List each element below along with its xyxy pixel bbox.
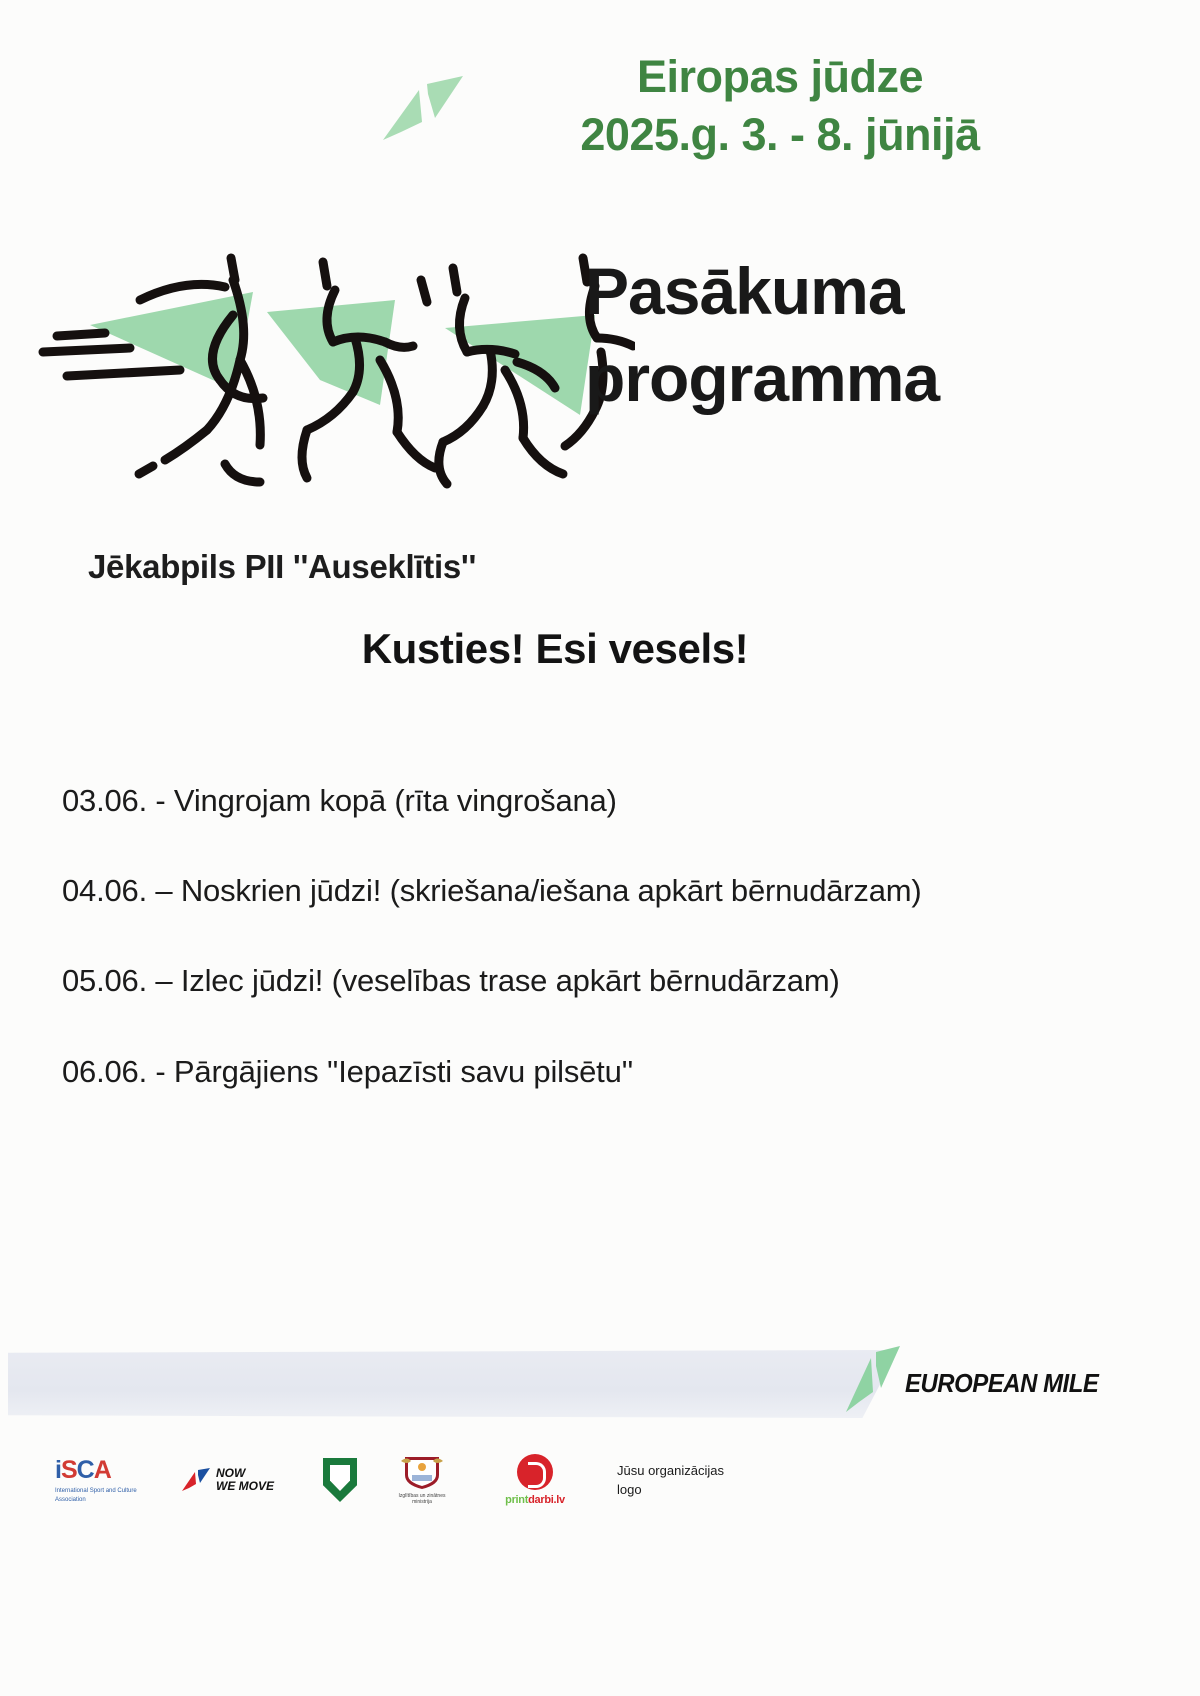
jekabpils-shield-icon <box>323 1458 357 1502</box>
latvia-coat-of-arms-icon: Izglītības un zinātnes ministrija <box>391 1455 453 1506</box>
nwm-line2: WE MOVE <box>216 1480 274 1493</box>
page-title-line1: Pasākuma <box>585 248 1185 335</box>
ministry-caption: Izglītības un zinātnes ministrija <box>391 1493 453 1506</box>
program-item: 06.06. - Pārgājiens ''Iepazīsti savu pil… <box>62 1053 1082 1090</box>
shield-crest <box>335 1468 345 1486</box>
isca-logo: iSCA International Sport and Culture Ass… <box>55 1456 147 1504</box>
coat-of-arms-art <box>399 1455 445 1491</box>
poster-page: Eiropas jūdze 2025.g. 3. - 8. jūnijā <box>0 0 1200 1696</box>
organisation-logo-placeholder: Jūsu organizācijas logo <box>617 1461 787 1500</box>
placeholder-line1: Jūsu organizācijas <box>617 1461 787 1481</box>
european-mile-wordmark: EUROPEAN MILE <box>905 1368 1098 1399</box>
isca-wordmark: iSCA <box>55 1456 147 1485</box>
hero-section: Pasākuma programma <box>0 220 1200 520</box>
printdarbi-logo: printdarbi.lv <box>487 1454 583 1506</box>
pd-print: print <box>505 1494 528 1506</box>
program-item: 03.06. - Vingrojam kopā (rīta vingrošana… <box>62 782 1082 819</box>
page-title-line2: programma <box>585 335 1185 422</box>
event-header-text: Eiropas jūdze 2025.g. 3. - 8. jūnijā <box>500 48 1060 163</box>
decorative-band <box>8 1350 898 1418</box>
running-figures-illustration <box>35 220 635 490</box>
event-dates: 2025.g. 3. - 8. jūnijā <box>500 106 1060 164</box>
program-list: 03.06. - Vingrojam kopā (rīta vingrošana… <box>62 782 1082 1143</box>
now-we-move-arrow-icon <box>181 1467 211 1493</box>
organization-name: Jēkabpils PII ''Auseklītis'' <box>88 548 476 586</box>
program-item: 04.06. – Noskrien jūdzi! (skriešana/ieša… <box>62 872 1082 909</box>
footer-band: EUROPEAN MILE <box>0 1332 1200 1442</box>
printdarbi-mark-icon <box>517 1454 553 1490</box>
isca-subtitle: International Sport and Culture Associat… <box>55 1487 147 1504</box>
now-we-move-logo: NOW WE MOVE <box>181 1467 289 1493</box>
event-title: Eiropas jūdze <box>500 48 1060 106</box>
european-mile-arrow-icon <box>375 70 475 145</box>
now-we-move-wordmark: NOW WE MOVE <box>216 1467 274 1493</box>
placeholder-line2: logo <box>617 1480 787 1500</box>
pd-darbi: darbi.lv <box>528 1494 565 1506</box>
printdarbi-wordmark: printdarbi.lv <box>487 1494 583 1506</box>
program-item: 05.06. – Izlec jūdzi! (veselības trase a… <box>62 962 1082 999</box>
organization-slogan: Kusties! Esi vesels! <box>0 625 1110 673</box>
european-mile-arrow-icon <box>843 1340 903 1418</box>
page-title: Pasākuma programma <box>585 248 1185 422</box>
poster-header: Eiropas jūdze 2025.g. 3. - 8. jūnijā <box>0 48 1200 198</box>
sponsor-row: iSCA International Sport and Culture Ass… <box>55 1440 775 1520</box>
